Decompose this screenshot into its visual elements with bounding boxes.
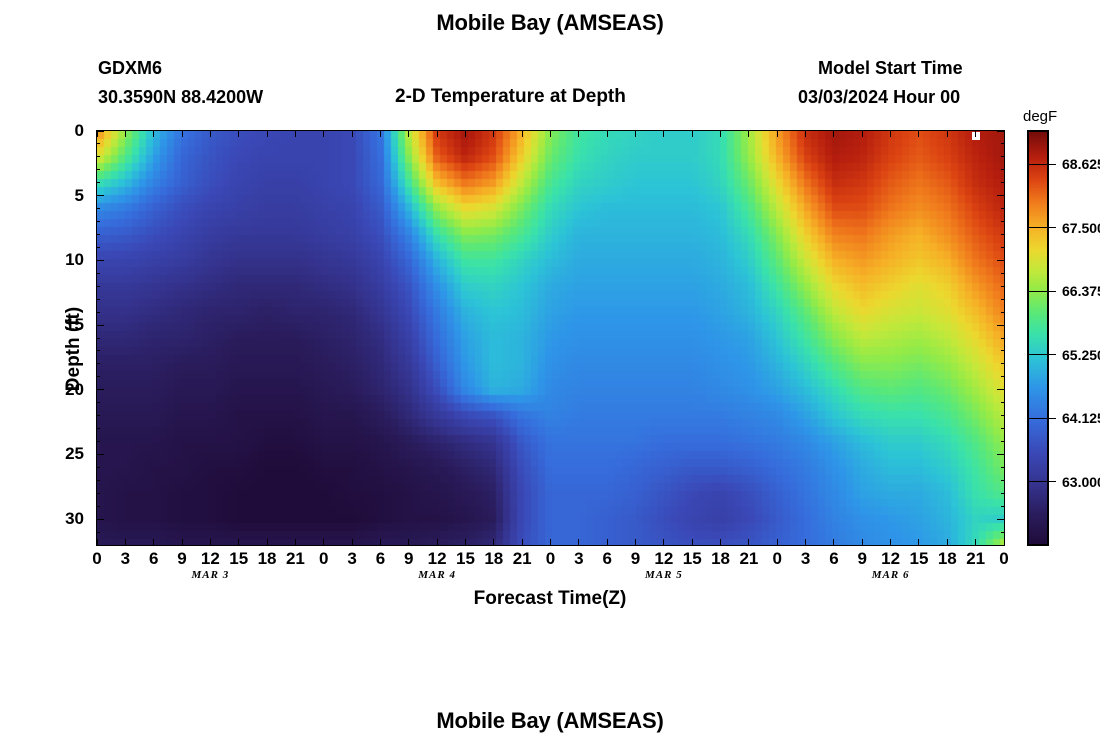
y-tick: [96, 338, 100, 339]
y-tick-label: 10: [46, 250, 84, 270]
x-tick-top: [380, 130, 381, 137]
colorbar-tick-inner: [1029, 481, 1047, 482]
y-tick: [96, 208, 100, 209]
x-tick-top: [607, 130, 608, 137]
y-tick-right: [997, 389, 1005, 390]
x-axis-title: Forecast Time(Z): [0, 588, 1100, 610]
colorbar-title: degF: [1023, 108, 1057, 125]
heatmap-plot-area: [96, 130, 1005, 546]
colorbar-tick-label: 65.250: [1062, 347, 1100, 363]
x-tick-top: [777, 130, 778, 137]
y-tick: [96, 143, 100, 144]
y-tick-label: 0: [46, 121, 84, 141]
y-tick-right: [997, 131, 1005, 132]
x-tick-top: [663, 130, 664, 137]
x-tick-top: [720, 130, 721, 137]
footer-title: Mobile Bay (AMSEAS): [0, 708, 1100, 734]
x-tick-label: 0: [773, 549, 782, 569]
x-tick: [720, 539, 721, 546]
y-tick-right: [1001, 480, 1005, 481]
x-tick-top: [465, 130, 466, 137]
y-tick-label: 5: [46, 186, 84, 206]
x-tick-label: 3: [347, 549, 356, 569]
x-tick-top: [692, 130, 693, 137]
y-tick-right: [1001, 402, 1005, 403]
y-tick-right: [997, 260, 1005, 261]
x-tick: [238, 539, 239, 546]
x-tick-top: [550, 130, 551, 137]
y-tick: [96, 286, 100, 287]
y-tick: [96, 532, 100, 533]
x-tick: [550, 539, 551, 546]
y-tick: [96, 260, 104, 261]
x-day-label: MAR 5: [645, 569, 683, 581]
x-tick-label: 15: [456, 549, 475, 569]
x-tick: [578, 539, 579, 546]
y-tick: [96, 234, 100, 235]
y-tick: [96, 493, 100, 494]
station-coordinates: 30.3590N 88.4200W: [98, 87, 263, 108]
y-tick-right: [1001, 143, 1005, 144]
x-tick-label: 15: [683, 549, 702, 569]
x-tick-label: 0: [999, 549, 1008, 569]
x-tick-label: 15: [229, 549, 248, 569]
y-tick-right: [997, 454, 1005, 455]
colorbar-tick-label: 68.625: [1062, 156, 1100, 172]
y-tick-label: 25: [46, 444, 84, 464]
x-tick-top: [862, 130, 863, 137]
x-tick: [182, 539, 183, 546]
y-tick-label: 15: [46, 315, 84, 335]
x-tick-top: [408, 130, 409, 137]
x-tick-label: 18: [258, 549, 277, 569]
x-day-label: MAR 3: [192, 569, 230, 581]
y-tick: [96, 454, 104, 455]
y-tick: [96, 247, 100, 248]
x-tick: [493, 539, 494, 546]
y-tick: [96, 156, 100, 157]
colorbar-tick-inner: [1029, 164, 1047, 165]
x-tick-top: [352, 130, 353, 137]
y-tick: [96, 441, 100, 442]
x-tick-label: 9: [404, 549, 413, 569]
y-tick: [96, 131, 104, 132]
x-tick-top: [890, 130, 891, 137]
y-tick: [96, 467, 100, 468]
x-tick-top: [210, 130, 211, 137]
x-tick-label: 9: [858, 549, 867, 569]
x-tick-top: [153, 130, 154, 137]
x-tick-label: 12: [881, 549, 900, 569]
x-tick-top: [238, 130, 239, 137]
y-tick: [96, 363, 100, 364]
x-tick-label: 18: [711, 549, 730, 569]
colorbar-tick-inner: [1029, 227, 1047, 228]
y-tick-right: [1001, 312, 1005, 313]
x-tick: [975, 539, 976, 546]
colorbar: [1027, 130, 1049, 546]
y-tick: [96, 389, 104, 390]
x-tick-label: 21: [513, 549, 532, 569]
x-tick-label: 6: [376, 549, 385, 569]
y-tick-label: 30: [46, 509, 84, 529]
y-tick-right: [997, 195, 1005, 196]
x-tick-label: 9: [177, 549, 186, 569]
colorbar-tick: [1047, 291, 1056, 292]
x-tick: [607, 539, 608, 546]
y-tick-right: [1001, 376, 1005, 377]
y-tick: [96, 350, 100, 351]
colorbar-tick: [1047, 227, 1056, 228]
colorbar-tick-label: 63.000: [1062, 474, 1100, 490]
x-tick-label: 21: [739, 549, 758, 569]
y-tick-right: [1001, 441, 1005, 442]
y-tick-right: [1001, 467, 1005, 468]
x-tick-top: [975, 130, 976, 137]
x-tick-top: [635, 130, 636, 137]
x-tick: [380, 539, 381, 546]
y-tick-right: [1001, 506, 1005, 507]
y-tick: [96, 376, 100, 377]
y-tick: [96, 402, 100, 403]
x-tick: [125, 539, 126, 546]
y-tick-right: [1001, 415, 1005, 416]
model-start-value: 03/03/2024 Hour 00: [798, 87, 960, 108]
x-tick-top: [805, 130, 806, 137]
x-tick: [465, 539, 466, 546]
x-tick: [153, 539, 154, 546]
y-tick: [96, 506, 100, 507]
x-tick-label: 3: [574, 549, 583, 569]
colorbar-tick-inner: [1029, 291, 1047, 292]
x-tick-top: [267, 130, 268, 137]
chart-subtitle: 2-D Temperature at Depth: [395, 86, 626, 108]
x-tick-label: 21: [286, 549, 305, 569]
x-tick-label: 0: [319, 549, 328, 569]
y-tick-label: 20: [46, 380, 84, 400]
x-tick: [692, 539, 693, 546]
heatmap-canvas: [97, 131, 1004, 545]
y-tick-right: [1001, 182, 1005, 183]
y-tick-right: [1001, 493, 1005, 494]
x-day-label: MAR 6: [872, 569, 910, 581]
x-tick-label: 0: [92, 549, 101, 569]
x-tick-label: 3: [121, 549, 130, 569]
x-tick: [437, 539, 438, 546]
colorbar-tick-label: 66.375: [1062, 283, 1100, 299]
x-tick-label: 0: [546, 549, 555, 569]
colorbar-tick: [1047, 164, 1056, 165]
y-tick: [96, 415, 100, 416]
y-tick-right: [1001, 169, 1005, 170]
x-tick-label: 12: [201, 549, 220, 569]
y-tick-right: [1001, 545, 1005, 546]
x-tick: [833, 539, 834, 546]
x-tick: [323, 539, 324, 546]
x-tick: [748, 539, 749, 546]
x-tick: [210, 539, 211, 546]
x-tick-top: [918, 130, 919, 137]
x-tick-label: 6: [829, 549, 838, 569]
x-tick-top: [125, 130, 126, 137]
y-tick-right: [1001, 156, 1005, 157]
x-tick: [862, 539, 863, 546]
x-tick-top: [437, 130, 438, 137]
colorbar-tick-label: 64.125: [1062, 410, 1100, 426]
x-tick-top: [833, 130, 834, 137]
x-tick-label: 18: [938, 549, 957, 569]
x-tick-label: 12: [428, 549, 447, 569]
x-tick-top: [522, 130, 523, 137]
colorbar-tick: [1047, 418, 1056, 419]
y-tick: [96, 545, 100, 546]
y-tick-right: [1001, 273, 1005, 274]
colorbar-tick-inner: [1029, 418, 1047, 419]
y-tick-right: [997, 325, 1005, 326]
y-tick-right: [1001, 299, 1005, 300]
y-tick-right: [1001, 350, 1005, 351]
x-day-label: MAR 4: [418, 569, 456, 581]
x-tick-top: [295, 130, 296, 137]
y-tick-right: [1001, 428, 1005, 429]
y-tick: [96, 428, 100, 429]
x-tick-label: 6: [149, 549, 158, 569]
y-tick-right: [1001, 221, 1005, 222]
x-tick: [777, 539, 778, 546]
x-tick-top: [947, 130, 948, 137]
x-tick: [890, 539, 891, 546]
station-id: GDXM6: [98, 58, 162, 79]
y-tick: [96, 480, 100, 481]
x-tick-top: [578, 130, 579, 137]
x-tick-label: 3: [801, 549, 810, 569]
x-tick: [408, 539, 409, 546]
y-tick: [96, 195, 104, 196]
y-tick: [96, 299, 100, 300]
y-tick: [96, 169, 100, 170]
x-tick-label: 9: [631, 549, 640, 569]
y-tick: [96, 182, 100, 183]
x-tick-top: [182, 130, 183, 137]
y-axis-title: Depth (ft): [63, 269, 85, 429]
y-tick-right: [1001, 286, 1005, 287]
y-tick-right: [1001, 208, 1005, 209]
x-tick-label: 6: [602, 549, 611, 569]
x-tick: [805, 539, 806, 546]
x-tick: [635, 539, 636, 546]
y-tick-right: [1001, 234, 1005, 235]
y-tick: [96, 312, 100, 313]
x-tick-top: [748, 130, 749, 137]
model-start-label: Model Start Time: [818, 58, 963, 79]
y-tick: [96, 325, 104, 326]
y-tick-right: [1001, 247, 1005, 248]
x-tick: [352, 539, 353, 546]
y-tick-right: [1001, 338, 1005, 339]
x-tick-label: 18: [484, 549, 503, 569]
page-title: Mobile Bay (AMSEAS): [0, 10, 1100, 36]
x-tick-label: 15: [910, 549, 929, 569]
y-tick-right: [1001, 532, 1005, 533]
x-tick-top: [493, 130, 494, 137]
y-tick: [96, 273, 100, 274]
y-tick-right: [997, 519, 1005, 520]
x-tick: [267, 539, 268, 546]
x-tick: [947, 539, 948, 546]
colorbar-tick-inner: [1029, 354, 1047, 355]
x-tick: [295, 539, 296, 546]
y-tick: [96, 519, 104, 520]
y-tick-right: [1001, 363, 1005, 364]
x-tick: [522, 539, 523, 546]
x-tick-label: 21: [966, 549, 985, 569]
y-tick: [96, 221, 100, 222]
x-tick: [663, 539, 664, 546]
x-tick-label: 12: [654, 549, 673, 569]
colorbar-tick: [1047, 354, 1056, 355]
x-tick: [918, 539, 919, 546]
colorbar-tick: [1047, 481, 1056, 482]
x-tick-top: [323, 130, 324, 137]
colorbar-tick-label: 67.500: [1062, 220, 1100, 236]
